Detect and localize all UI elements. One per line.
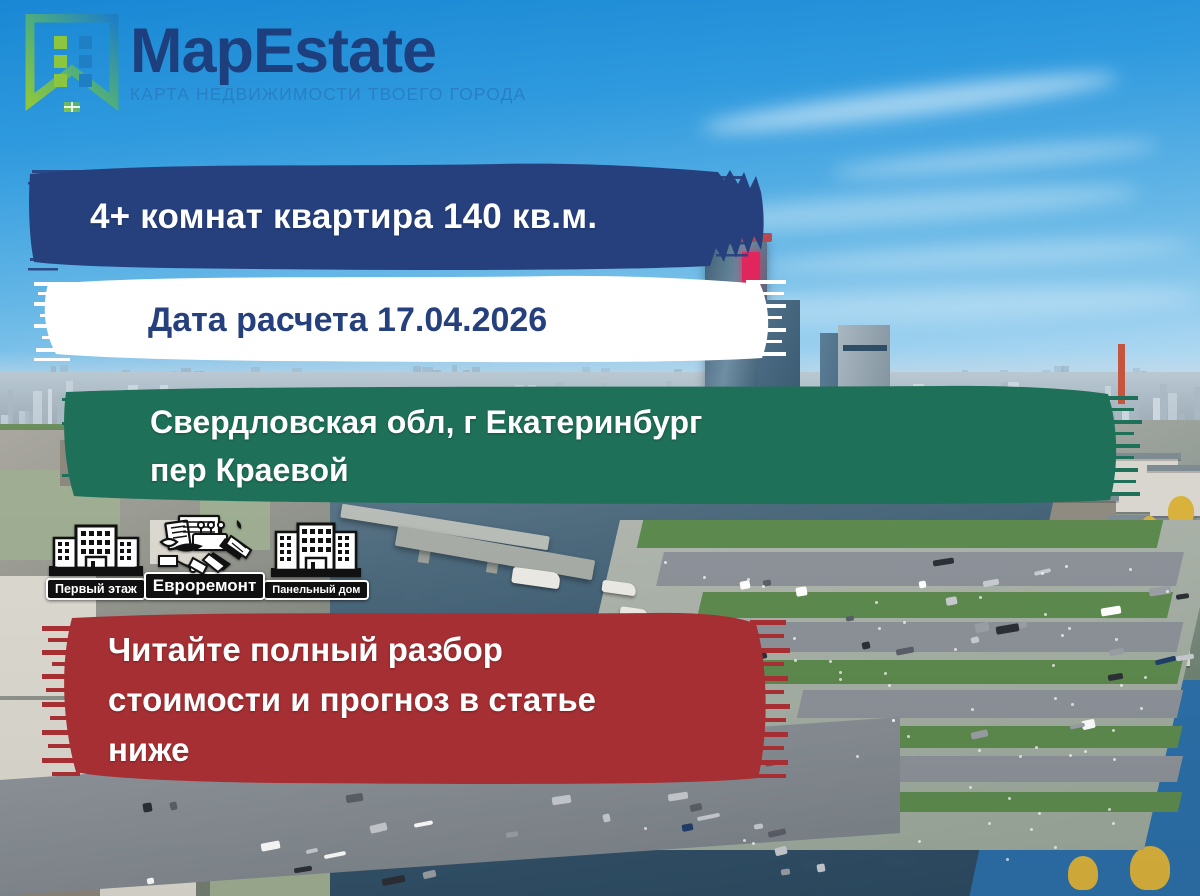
promo-poster: MapEstate КАРТА НЕДВИЖИМОСТИ ТВОЕГО ГОРО…: [0, 0, 1200, 896]
brand-text: MapEstate КАРТА НЕДВИЖИМОСТИ ТВОЕГО ГОРО…: [130, 14, 526, 105]
panel-house-icon: [270, 520, 362, 584]
rooms-banner: 4+ комнат квартира 140 кв.м.: [28, 158, 768, 276]
renovation-tools-icon: [153, 512, 257, 578]
date-banner: Дата расчета 17.04.2026: [34, 272, 786, 368]
address-banner-line2: пер Краевой: [62, 446, 1144, 494]
date-banner-text: Дата расчета 17.04.2026: [34, 300, 786, 340]
rooms-banner-text: 4+ комнат квартира 140 кв.м.: [28, 197, 768, 237]
cta-banner-line3: ниже: [42, 725, 790, 775]
brand-tagline: КАРТА НЕДВИЖИМОСТИ ТВОЕГО ГОРОДА: [130, 84, 526, 105]
map-bookmark-building-icon: [24, 14, 120, 114]
sticker-panel-house[interactable]: Панельный дом: [263, 520, 369, 600]
low-rise-building-icon: [48, 520, 144, 582]
brand-name: MapEstate: [130, 20, 526, 82]
cta-banner-line2: стоимости и прогноз в статье: [42, 675, 790, 725]
feature-stickers: Первый этаж: [46, 512, 369, 600]
cta-banner-line1: Читайте полный разбор: [42, 625, 790, 675]
brand-logo[interactable]: MapEstate КАРТА НЕДВИЖИМОСТИ ТВОЕГО ГОРО…: [24, 14, 526, 114]
address-banner-line1: Свердловская обл, г Екатеринбург: [62, 398, 1144, 446]
sticker-first-floor[interactable]: Первый этаж: [46, 520, 146, 600]
cta-banner[interactable]: Читайте полный разбор стоимости и прогно…: [42, 610, 790, 790]
address-banner: Свердловская обл, г Екатеринбург пер Кра…: [62, 382, 1144, 510]
sticker-renovation[interactable]: Евроремонт: [144, 512, 266, 600]
